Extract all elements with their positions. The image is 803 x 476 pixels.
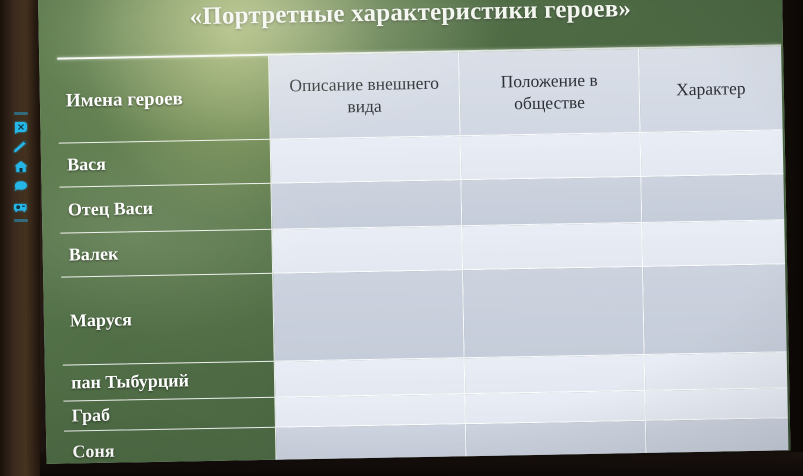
cell-character[interactable] [641,130,784,177]
column-header-social-position: Положение в обществе [459,49,641,136]
projector-icon[interactable] [12,199,30,215]
cell-social-position[interactable] [463,267,645,358]
cell-social-position[interactable] [462,223,643,270]
cell-social-position[interactable] [465,391,646,424]
cell-character-name: Соня [64,428,277,464]
cell-appearance[interactable] [275,394,466,427]
presentation-slide: «Портретные характеристики героев» Имена… [38,0,790,464]
home-icon[interactable] [12,159,30,175]
cell-character[interactable] [643,264,787,355]
room-background: «Портретные характеристики героев» Имена… [0,0,803,476]
column-header-appearance: Описание внешнего вида [269,52,461,139]
column-header-character: Характер [639,46,783,133]
projection-screen: «Портретные характеристики героев» Имена… [38,0,790,464]
cell-character[interactable] [642,220,785,267]
table-header-row: Имена героев Описание внешнего вида Поло… [57,46,782,143]
cell-appearance[interactable] [275,358,466,397]
cell-character-name: Валек [60,230,273,278]
page-title: «Портретные характеристики героев» [38,0,782,34]
select-icon[interactable] [12,119,30,135]
cell-character[interactable] [641,174,784,223]
cell-social-position[interactable] [465,355,646,394]
eraser-icon[interactable] [12,179,30,195]
cell-character[interactable] [645,388,788,421]
cell-appearance[interactable] [271,180,462,229]
toolbar-separator-top [14,112,28,115]
characters-table: Имена героев Описание внешнего вида Поло… [57,46,788,463]
cell-character[interactable] [645,352,788,391]
cell-appearance[interactable] [271,136,462,183]
cell-character-name: Отец Васи [60,184,273,234]
cell-social-position[interactable] [461,133,642,180]
cell-character-name: Граб [63,398,276,432]
toolbar-separator-bottom [14,219,28,222]
whiteboard-toolbar[interactable] [9,112,33,230]
cell-character-name: Вася [59,140,272,188]
cell-character-name: пан Тыбурций [63,362,276,402]
cell-social-position[interactable] [461,177,642,226]
cell-appearance[interactable] [273,270,465,361]
column-header-name: Имена героев [57,56,271,144]
cell-character-name: Маруся [61,274,275,366]
whiteboard-left-frame [0,0,40,476]
cell-appearance[interactable] [272,226,463,273]
pen-icon[interactable] [12,139,30,155]
table-row: Маруся [61,264,786,365]
